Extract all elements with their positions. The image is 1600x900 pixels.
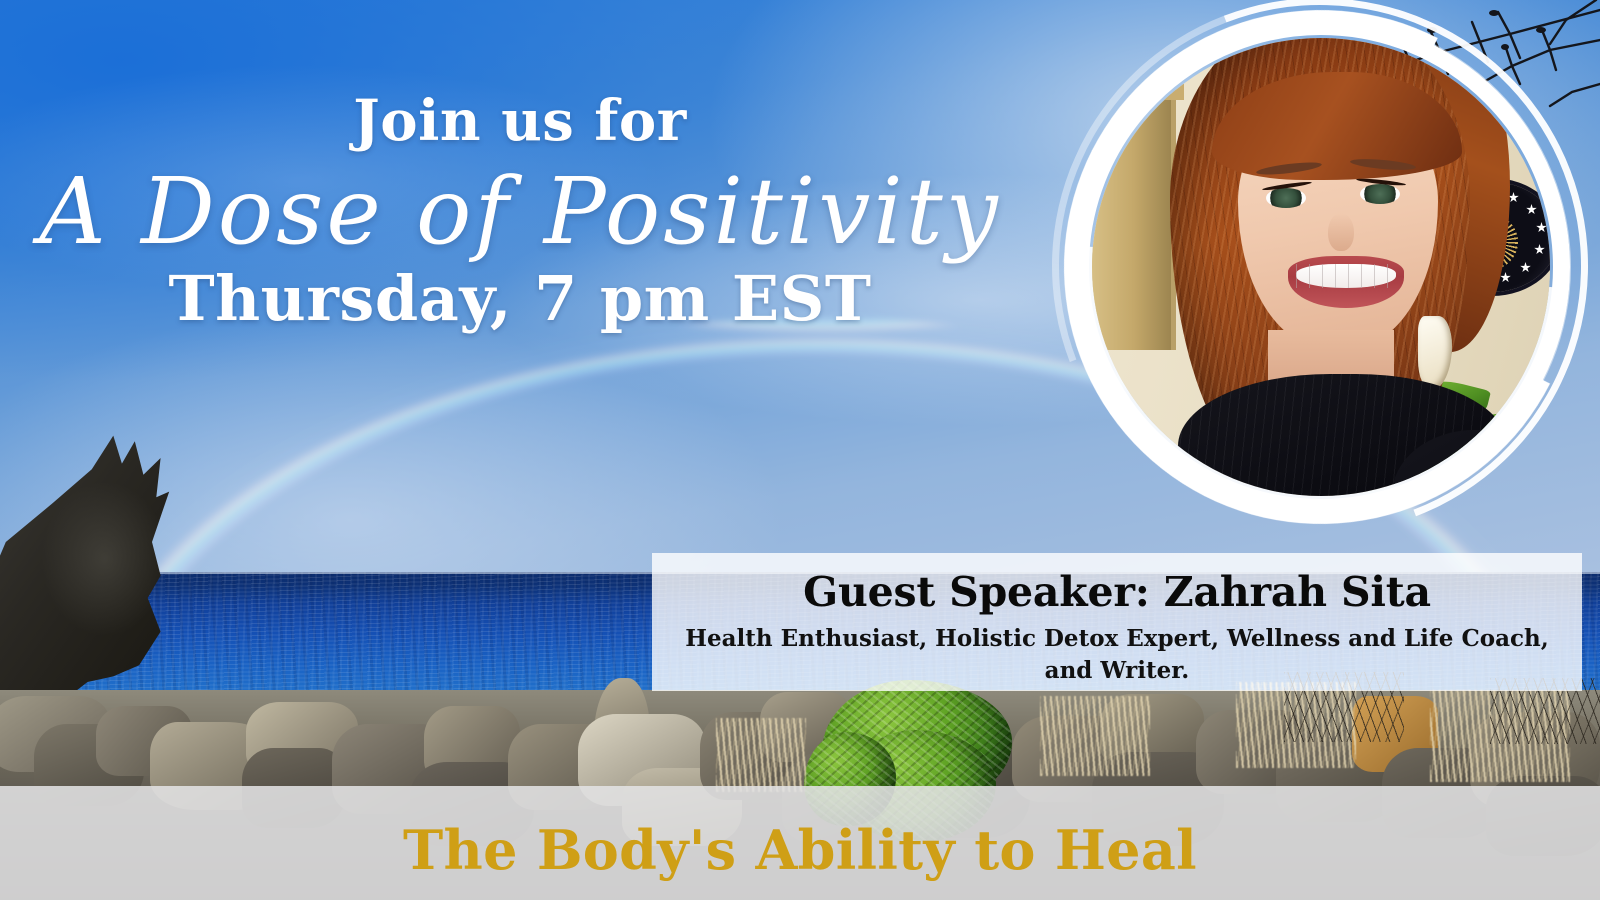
speaker-info-panel: Guest Speaker: Zahrah Sita Health Enthus…	[652, 553, 1582, 691]
portrait-eye-left	[1266, 188, 1306, 208]
topic-banner: The Body's Ability to Heal	[0, 786, 1600, 900]
portrait-doorframe-top	[1092, 84, 1184, 100]
portrait-doorframe	[1092, 90, 1176, 350]
speaker-name: Guest Speaker: Zahrah Sita	[652, 567, 1582, 617]
portrait-eye-right	[1360, 184, 1400, 204]
event-title: A Dose of Positivity	[0, 158, 1040, 266]
headline-block: Join us for A Dose of Positivity Thursda…	[0, 88, 1040, 336]
portrait-tattoo	[1470, 444, 1530, 496]
dry-grass	[1040, 696, 1150, 776]
poster-canvas: Join us for A Dose of Positivity Thursda…	[0, 0, 1600, 900]
speaker-portrait	[1040, 0, 1600, 552]
dry-grass	[716, 718, 806, 792]
intro-text: Join us for	[0, 88, 1040, 154]
speaker-credentials: Health Enthusiast, Holistic Detox Expert…	[652, 623, 1582, 687]
portrait-photo	[1092, 38, 1550, 496]
event-datetime: Thursday, 7 pm EST	[0, 262, 1040, 336]
topic-title: The Body's Ability to Heal	[403, 818, 1197, 882]
portrait-teeth	[1296, 264, 1396, 288]
portrait-nose	[1328, 213, 1354, 251]
